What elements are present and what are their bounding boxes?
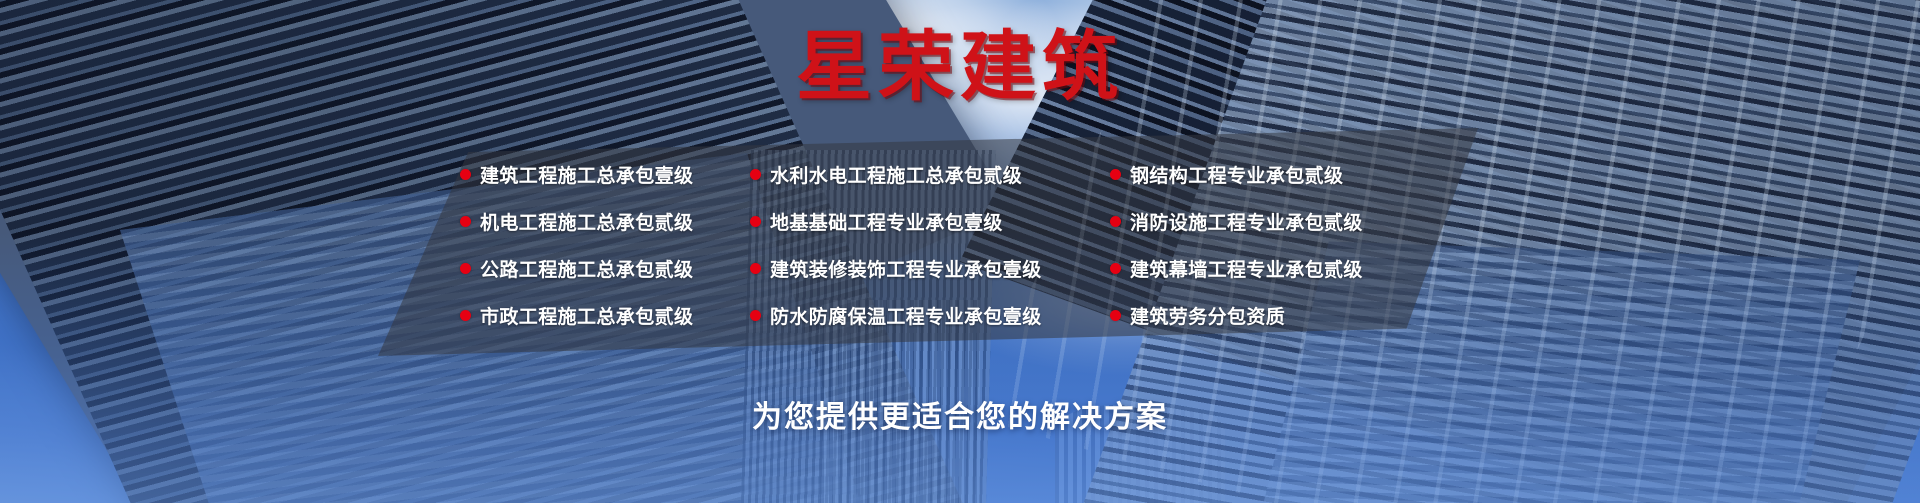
bullet-dot-icon bbox=[1110, 263, 1121, 274]
qualification-column-2: 水利水电工程施工总承包贰级 地基基础工程专业承包壹级 建筑装修装饰工程专业承包壹… bbox=[750, 162, 1110, 350]
list-item: 建筑装修装饰工程专业承包壹级 bbox=[750, 256, 1110, 281]
list-item: 水利水电工程施工总承包贰级 bbox=[750, 162, 1110, 187]
qualification-label: 水利水电工程施工总承包贰级 bbox=[770, 161, 1022, 188]
banner-tagline: 为您提供更适合您的解决方案 bbox=[0, 392, 1920, 436]
list-item: 钢结构工程专业承包贰级 bbox=[1110, 162, 1460, 187]
qualification-label: 公路工程施工总承包贰级 bbox=[480, 255, 693, 282]
qualification-column-3: 钢结构工程专业承包贰级 消防设施工程专业承包贰级 建筑幕墙工程专业承包贰级 建筑… bbox=[1110, 162, 1460, 350]
bullet-dot-icon bbox=[460, 216, 471, 227]
list-item: 建筑劳务分包资质 bbox=[1110, 303, 1460, 328]
qualification-label: 建筑幕墙工程专业承包贰级 bbox=[1130, 255, 1363, 282]
bullet-dot-icon bbox=[460, 263, 471, 274]
list-item: 消防设施工程专业承包贰级 bbox=[1110, 209, 1460, 234]
qualification-column-1: 建筑工程施工总承包壹级 机电工程施工总承包贰级 公路工程施工总承包贰级 市政工程… bbox=[430, 162, 750, 350]
qualification-label: 钢结构工程专业承包贰级 bbox=[1130, 161, 1343, 188]
list-item: 机电工程施工总承包贰级 bbox=[460, 209, 750, 234]
bullet-dot-icon bbox=[750, 310, 761, 321]
list-item: 建筑幕墙工程专业承包贰级 bbox=[1110, 256, 1460, 281]
qualification-label: 防水防腐保温工程专业承包壹级 bbox=[770, 302, 1042, 329]
qualification-label: 市政工程施工总承包贰级 bbox=[480, 302, 693, 329]
qualification-label: 建筑工程施工总承包壹级 bbox=[480, 161, 693, 188]
list-item: 公路工程施工总承包贰级 bbox=[460, 256, 750, 281]
qualification-label: 建筑装修装饰工程专业承包壹级 bbox=[770, 255, 1042, 282]
bullet-dot-icon bbox=[1110, 216, 1121, 227]
qualification-label: 地基基础工程专业承包壹级 bbox=[770, 208, 1003, 235]
qualification-label: 消防设施工程专业承包贰级 bbox=[1130, 208, 1363, 235]
list-item: 地基基础工程专业承包壹级 bbox=[750, 209, 1110, 234]
bullet-dot-icon bbox=[460, 310, 471, 321]
company-title: 星荣建筑 bbox=[0, 28, 1920, 108]
list-item: 市政工程施工总承包贰级 bbox=[460, 303, 750, 328]
bullet-dot-icon bbox=[1110, 310, 1121, 321]
qualifications-list: 建筑工程施工总承包壹级 机电工程施工总承包贰级 公路工程施工总承包贰级 市政工程… bbox=[430, 140, 1470, 350]
bullet-dot-icon bbox=[750, 263, 761, 274]
bullet-dot-icon bbox=[750, 216, 761, 227]
bullet-dot-icon bbox=[1110, 169, 1121, 180]
list-item: 防水防腐保温工程专业承包壹级 bbox=[750, 303, 1110, 328]
qualification-label: 建筑劳务分包资质 bbox=[1130, 302, 1285, 329]
bullet-dot-icon bbox=[460, 169, 471, 180]
hero-banner: 星荣建筑 建筑工程施工总承包壹级 机电工程施工总承包贰级 公路工程施工总承包贰级… bbox=[0, 0, 1920, 503]
qualification-label: 机电工程施工总承包贰级 bbox=[480, 208, 693, 235]
bullet-dot-icon bbox=[750, 169, 761, 180]
list-item: 建筑工程施工总承包壹级 bbox=[460, 162, 750, 187]
